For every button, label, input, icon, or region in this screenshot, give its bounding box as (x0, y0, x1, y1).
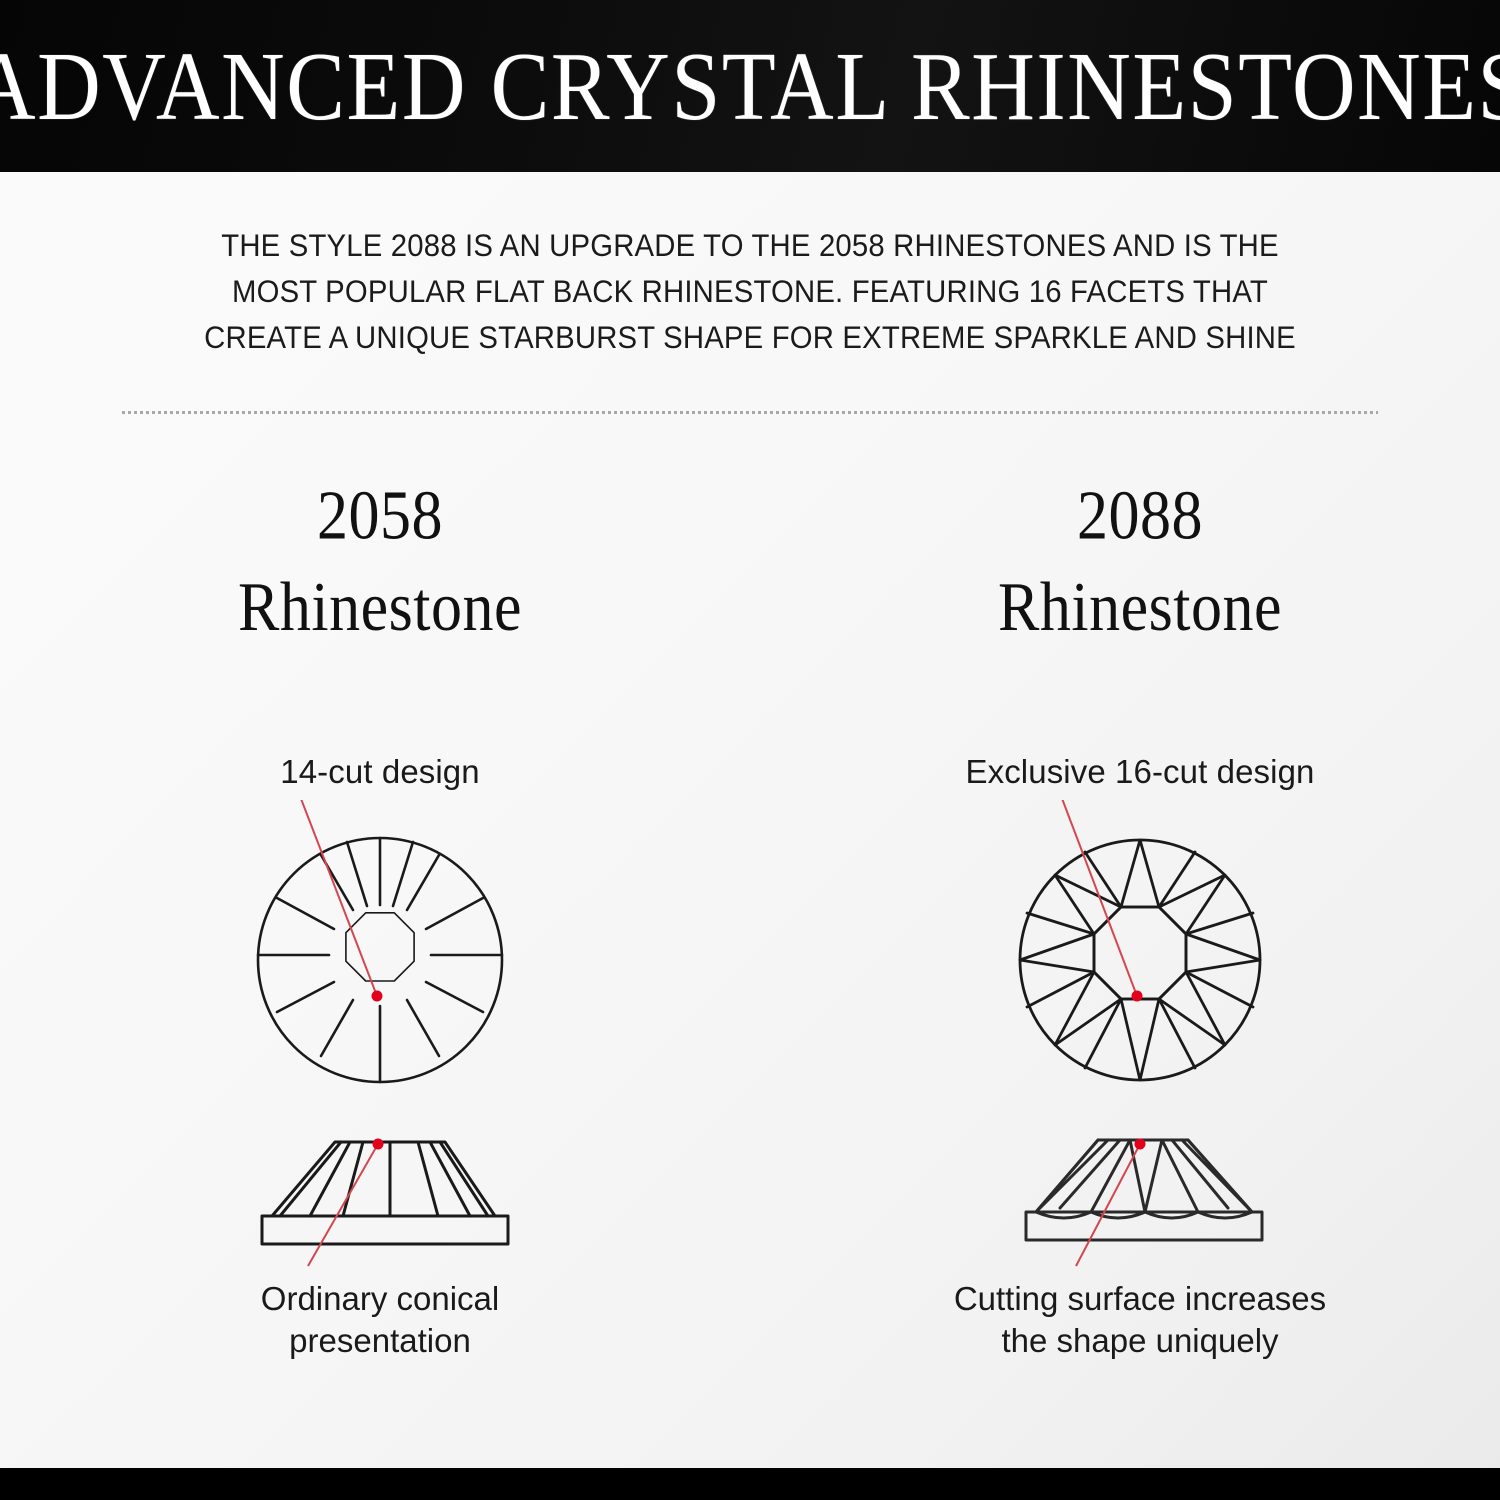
figure-2058-top-view (30, 800, 730, 1100)
marker-dot-2058-side (373, 1139, 384, 1150)
label-14-cut-design: 14-cut design (30, 752, 730, 792)
marker-dot-2088-side (1135, 1139, 1146, 1150)
caption-2058-line-2: presentation (30, 1320, 730, 1362)
caption-2058-line-1: Ordinary conical (30, 1278, 730, 1320)
figure-2088-top-view (790, 800, 1490, 1100)
caption-2088-line-2: the shape uniquely (790, 1320, 1490, 1362)
caption-2088: Cutting surface increases the shape uniq… (790, 1278, 1490, 1362)
rhinestone-2058-top-view-icon (225, 800, 535, 1090)
page-title: ADVANCED CRYSTAL RHINESTONES (0, 37, 1500, 135)
column-2088: 2088 Rhinestone Exclusive 16-cut design (790, 470, 1490, 1430)
column-2058-title-word: Rhinestone (30, 562, 730, 654)
dotted-divider (122, 411, 1378, 414)
column-2088-title-word: Rhinestone (790, 562, 1490, 654)
column-2058-title: 2058 Rhinestone (30, 470, 730, 654)
footer-banner (0, 1468, 1500, 1500)
column-2058: 2058 Rhinestone 14-cut design (30, 470, 730, 1430)
intro-line-2: MOST POPULAR FLAT BACK RHINESTONE. FEATU… (164, 268, 1336, 314)
label-16-cut-design: Exclusive 16-cut design (790, 752, 1490, 792)
caption-2088-line-1: Cutting surface increases (790, 1278, 1490, 1320)
intro-paragraph: THE STYLE 2088 IS AN UPGRADE TO THE 2058… (164, 222, 1336, 360)
caption-2058: Ordinary conical presentation (30, 1278, 730, 1362)
figure-2088-side-view (790, 1120, 1490, 1270)
column-2088-title-number: 2088 (790, 470, 1490, 562)
column-2088-title: 2088 Rhinestone (790, 470, 1490, 654)
column-2058-title-number: 2058 (30, 470, 730, 562)
figure-2058-side-view (30, 1120, 730, 1270)
header-banner: ADVANCED CRYSTAL RHINESTONES (0, 0, 1500, 172)
rhinestone-2088-side-view-icon (990, 1120, 1290, 1270)
intro-line-3: CREATE A UNIQUE STARBURST SHAPE FOR EXTR… (164, 314, 1336, 360)
rhinestone-2058-side-view-icon (230, 1120, 530, 1270)
rhinestone-2088-top-view-icon (985, 800, 1295, 1090)
marker-dot-2088-top (1132, 991, 1143, 1002)
infographic-page: ADVANCED CRYSTAL RHINESTONES THE STYLE 2… (0, 0, 1500, 1500)
marker-dot-2058-top (372, 991, 383, 1002)
intro-line-1: THE STYLE 2088 IS AN UPGRADE TO THE 2058… (164, 222, 1336, 268)
